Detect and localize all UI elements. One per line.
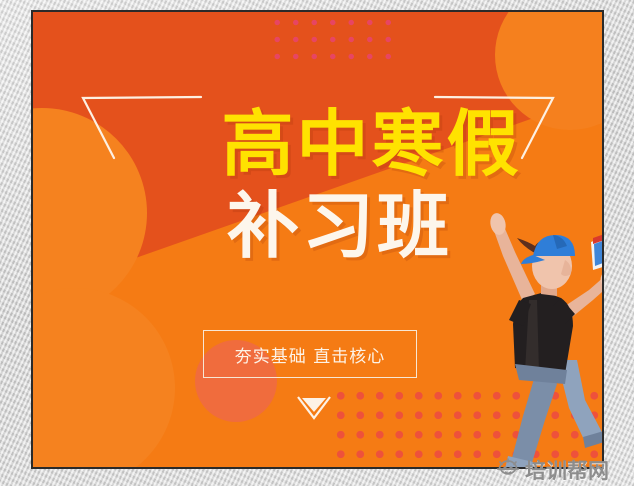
poster-title-line1: 高中寒假 bbox=[33, 108, 602, 180]
pink-dot-grid-icon bbox=[268, 14, 400, 70]
watermark: 培训帮网 bbox=[496, 455, 609, 485]
tagline-text: 夯实基础 直击核心 bbox=[235, 342, 385, 367]
tagline-box: 夯实基础 直击核心 bbox=[203, 330, 417, 378]
sun-face-icon bbox=[496, 457, 520, 484]
chevron-down-icon bbox=[295, 394, 333, 422]
watermark-text: 培训帮网 bbox=[525, 455, 609, 485]
poster-frame: 高中寒假 补习班 夯实基础 直击核心 bbox=[31, 10, 604, 469]
jumping-student-illustration bbox=[453, 194, 604, 469]
